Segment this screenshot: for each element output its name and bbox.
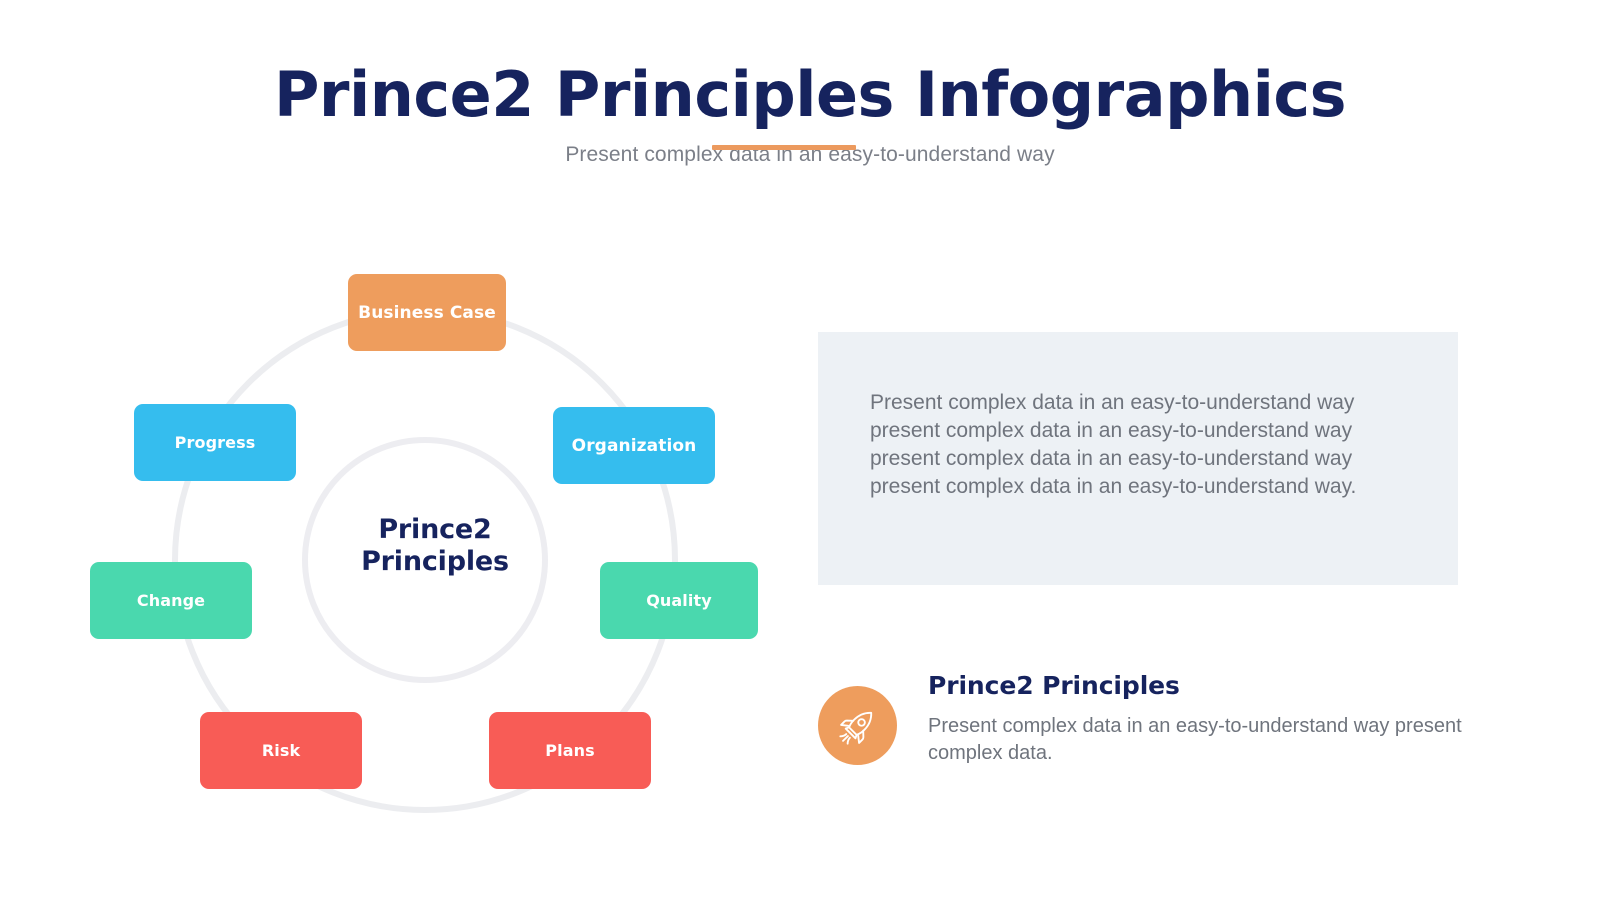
info-panel: Present complex data in an easy-to-under… (818, 332, 1458, 585)
info-panel-text: Present complex data in an easy-to-under… (870, 389, 1410, 501)
slide-canvas: Prince2 Principles Infographics Present … (0, 0, 1620, 911)
rocket-badge (818, 686, 897, 765)
page-title: Prince2 Principles Infographics (0, 62, 1620, 127)
principles-diagram: Prince2 Principles Business Case Organiz… (90, 255, 780, 855)
feature-title: Prince2 Principles (928, 672, 1476, 700)
node-business-case[interactable]: Business Case (348, 274, 506, 351)
accent-divider (712, 145, 856, 150)
diagram-center-label: Prince2 Principles (335, 514, 535, 578)
node-quality[interactable]: Quality (600, 562, 758, 639)
center-label-line1: Prince2 (335, 514, 535, 546)
feature-block: Prince2 Principles Present complex data … (818, 672, 1478, 792)
header: Prince2 Principles Infographics Present … (0, 62, 1620, 167)
node-change[interactable]: Change (90, 562, 252, 639)
feature-text-group: Prince2 Principles Present complex data … (928, 672, 1476, 768)
node-plans[interactable]: Plans (489, 712, 651, 789)
node-risk[interactable]: Risk (200, 712, 362, 789)
feature-description: Present complex data in an easy-to-under… (928, 713, 1476, 768)
node-organization[interactable]: Organization (553, 407, 715, 484)
center-label-line2: Principles (335, 546, 535, 578)
rocket-icon (835, 703, 881, 749)
node-progress[interactable]: Progress (134, 404, 296, 481)
